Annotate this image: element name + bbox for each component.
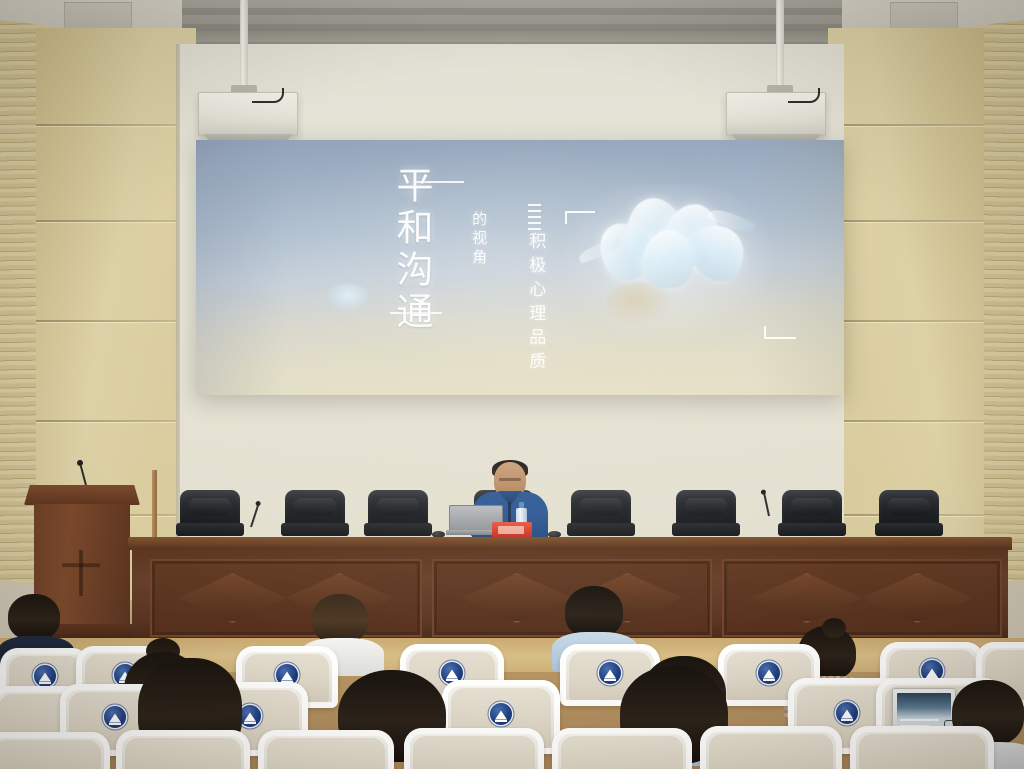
exec-chair	[281, 490, 349, 540]
projector-wire-left	[252, 88, 284, 103]
slide-main-title: 平和沟通	[390, 166, 430, 334]
slide-subtitle: 的视角	[468, 211, 489, 268]
slide-tagline: 积极心理品质	[523, 232, 548, 376]
audience-seat[interactable]	[700, 726, 842, 769]
presenter-face	[499, 478, 521, 481]
projector-pole-left	[240, 0, 248, 88]
lecture-hall-photo: 平和沟通 的视角 积极心理品质	[0, 0, 1024, 769]
school-emblem-logo	[490, 703, 512, 725]
screen-vignette	[196, 140, 844, 395]
ceiling-vent-left	[64, 2, 132, 30]
soffit-band-1	[182, 8, 842, 15]
audience-seat[interactable]	[404, 728, 544, 769]
exec-chair	[778, 490, 846, 540]
panel-seam	[828, 420, 984, 422]
panel-seam	[36, 220, 196, 222]
audience-seat[interactable]	[0, 732, 110, 769]
audience-seat[interactable]	[258, 730, 394, 769]
projector-wire-right	[788, 88, 820, 103]
panel-seam	[828, 220, 984, 222]
school-emblem-logo	[104, 706, 126, 728]
projector-left	[198, 92, 298, 136]
audience-seat[interactable]	[116, 730, 250, 769]
school-emblem-logo	[758, 662, 780, 684]
ceiling-vent-right	[890, 2, 958, 30]
soffit-band-2	[182, 24, 842, 31]
audience-seat[interactable]	[850, 726, 994, 769]
panel-seam	[36, 420, 196, 422]
projection-screen: 平和沟通 的视角 积极心理品质	[196, 140, 844, 395]
flag-pole	[152, 470, 157, 540]
exec-chair	[364, 490, 432, 540]
exec-chair	[875, 490, 943, 540]
presenter-placket	[508, 502, 511, 524]
panel-seam	[36, 320, 196, 322]
podium-top	[24, 485, 140, 505]
audience-area	[0, 580, 1024, 769]
panel-seam	[828, 124, 984, 126]
exec-chair	[176, 490, 244, 540]
dash-divider-icon	[528, 204, 541, 230]
slide-canvas: 平和沟通 的视角 积极心理品质	[196, 140, 844, 395]
exec-chair	[567, 490, 635, 540]
exec-chair	[672, 490, 740, 540]
projector-pole-right	[776, 0, 784, 88]
panel-seam	[828, 320, 984, 322]
school-emblem-logo	[34, 665, 56, 687]
audience-seat[interactable]	[552, 728, 692, 769]
school-emblem-logo	[836, 702, 858, 724]
panel-seam	[36, 124, 196, 126]
